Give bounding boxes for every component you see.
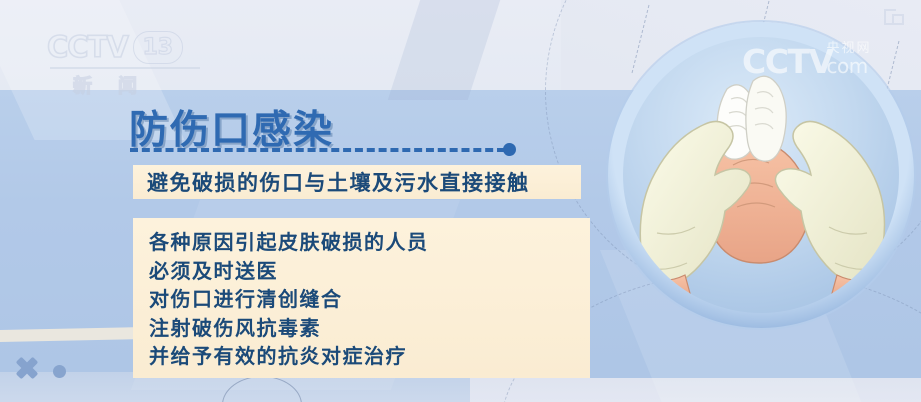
logo-underline (50, 67, 200, 69)
title-dashed-rule (130, 148, 505, 152)
illustration-circle (608, 22, 914, 328)
broadcast-slide: CCTV 13 新 闻 (0, 0, 921, 402)
title-end-dot (503, 143, 516, 156)
instruction-line: 注射破伤风抗毒素 (149, 314, 590, 343)
page-title: 防伤口感染 (129, 99, 334, 155)
logo-cctv-text: CCTV (47, 30, 128, 64)
logo-channel-number: 13 (133, 31, 183, 64)
dot-decoration-icon (53, 365, 66, 378)
instruction-line: 必须及时送医 (149, 257, 590, 286)
illustration-image (623, 37, 899, 313)
cctv13-channel-logo: CCTV 13 新 闻 (47, 30, 222, 88)
cross-decoration-icon (16, 357, 38, 379)
instruction-line: 各种原因引起皮肤破损的人员 (149, 228, 590, 257)
instruction-line: 并给予有效的抗炎对症治疗 (149, 342, 590, 371)
instruction-line: 对伤口进行清创缝合 (149, 285, 590, 314)
highlight-banner: 避免破损的伤口与土壤及污水直接接触 (133, 165, 581, 199)
logo-sub-char-2: 闻 (118, 71, 137, 98)
highlight-banner-text: 避免破损的伤口与土壤及污水直接接触 (133, 167, 530, 197)
instructions-panel: 各种原因引起皮肤破损的人员 必须及时送医 对伤口进行清创缝合 注射破伤风抗毒素 … (133, 218, 590, 378)
logo-subtitle: 新 闻 (47, 71, 222, 98)
logo-main-row: CCTV 13 (47, 30, 222, 64)
logo-sub-char-1: 新 (73, 71, 92, 98)
